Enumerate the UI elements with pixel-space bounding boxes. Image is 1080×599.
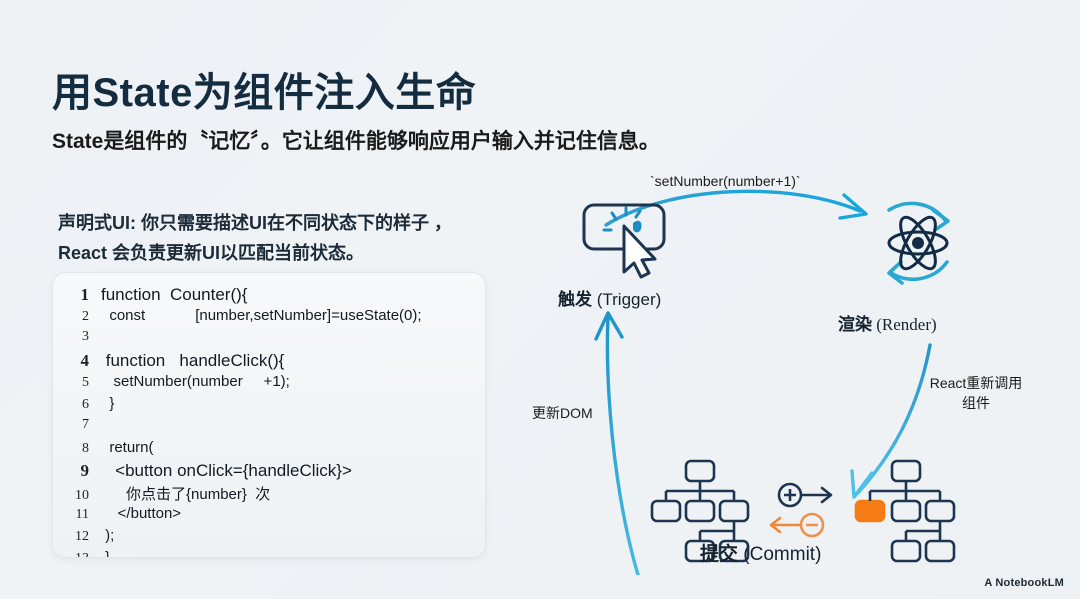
code-line-text: setNumber(number +1); xyxy=(101,373,290,390)
edge-label-set-number: `setNumber(number+1)` xyxy=(650,171,801,191)
footer-brand: A NotebookLM xyxy=(984,577,1064,589)
code-line-text: function handleClick(){ xyxy=(101,351,284,371)
diagram-node-label-render: 渲染 (Render) xyxy=(838,310,937,335)
code-line: 8 return( xyxy=(53,439,485,461)
code-line: 5 setNumber(number +1); xyxy=(53,373,485,395)
code-line-text: } xyxy=(101,395,114,412)
code-line-number: 2 xyxy=(63,309,89,325)
commit-label-zh: 提交 xyxy=(700,544,738,565)
trigger-label-zh: 触发 xyxy=(558,290,592,309)
code-line-number: 4 xyxy=(63,351,89,371)
code-line-number: 12 xyxy=(63,529,89,545)
code-line-number: 3 xyxy=(63,329,89,345)
code-line: 9 <button onClick={handleClick}> xyxy=(53,461,485,483)
commit-label-en: (Commit) xyxy=(738,544,821,565)
code-line-number: 8 xyxy=(63,441,89,457)
edge-label-update-dom: 更新DOM xyxy=(532,403,593,423)
code-line-text: const [number,setNumber]=useState(0); xyxy=(101,307,422,324)
code-line: 3 xyxy=(53,329,485,351)
render-label-zh: 渲染 xyxy=(838,315,872,334)
code-line-number: 5 xyxy=(63,375,89,391)
code-line-text: } xyxy=(101,549,110,558)
diagram-node-label-trigger: 触发 (Trigger) xyxy=(558,285,661,310)
code-line: 7 xyxy=(53,417,485,439)
recall-line-2: 组件 xyxy=(916,393,1036,413)
code-line-number: 11 xyxy=(63,507,89,523)
code-line: 2 const [number,setNumber]=useState(0); xyxy=(53,307,485,329)
react-atom-icon xyxy=(889,203,948,283)
recall-line-1: React重新调用 xyxy=(916,373,1036,393)
code-line-number: 9 xyxy=(63,461,89,481)
code-line-number: 6 xyxy=(63,397,89,413)
code-line-text: <button onClick={handleClick}> xyxy=(101,461,352,481)
code-line: 10 你点击了{number} 次 xyxy=(53,483,485,505)
code-line-number: 13 xyxy=(63,551,89,558)
code-line: 4 function handleClick(){ xyxy=(53,351,485,373)
code-line-text: return( xyxy=(101,439,154,456)
diagram-node-label-commit: 提交 (Commit) xyxy=(700,539,821,566)
edge-label-react-recall: React重新调用 组件 xyxy=(916,373,1036,413)
code-line-text: </button> xyxy=(101,505,181,522)
diff-minus-arrow xyxy=(771,514,823,536)
react-lifecycle-diagram: 触发 (Trigger) 渲染 (Render) 提交 (Commit) `se… xyxy=(500,155,1070,575)
slide-root: 用State为组件注入生命 State是组件的〝记忆〞。它让组件能够响应用户输入… xyxy=(0,0,1080,599)
code-line: 6 } xyxy=(53,395,485,417)
code-line-number: 7 xyxy=(63,417,89,433)
render-label-en: (Render) xyxy=(872,315,937,334)
edge-trigger-to-render-arrow xyxy=(606,191,866,225)
lead-paragraph: 声明式UI: 你只需要描述UI在不同状态下的样子 ， React 会负责更新UI… xyxy=(58,208,478,268)
code-line: 13 } xyxy=(53,549,485,558)
code-line-text: function Counter(){ xyxy=(101,285,247,305)
edge-commit-to-trigger-arrow xyxy=(596,313,660,575)
code-line: 11 </button> xyxy=(53,505,485,527)
code-block: 1function Counter(){2 const [number,setN… xyxy=(52,272,486,558)
diff-plus-arrow xyxy=(779,484,831,506)
code-line-number: 1 xyxy=(63,285,89,305)
code-line-text: ); xyxy=(101,527,114,544)
code-line: 1function Counter(){ xyxy=(53,285,485,307)
code-line-number: 10 xyxy=(63,488,89,504)
page-title: 用State为组件注入生命 xyxy=(52,60,476,118)
code-line-text: 你点击了{number} 次 xyxy=(101,483,270,504)
page-subtitle: State是组件的〝记忆〞。它让组件能够响应用户输入并记住信息。 xyxy=(52,125,660,155)
trigger-label-en: (Trigger) xyxy=(592,290,661,309)
code-line: 12 ); xyxy=(53,527,485,549)
